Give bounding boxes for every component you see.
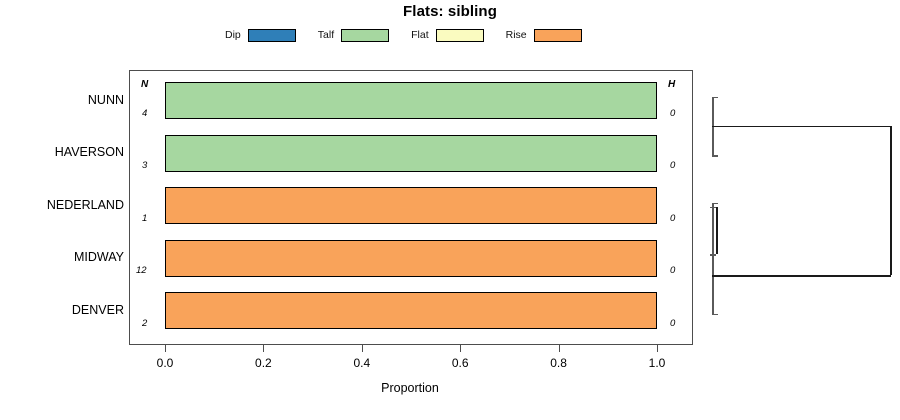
x-tick-1.0 (657, 345, 658, 352)
column-header-n: N (141, 79, 148, 90)
dendro-link-upper (712, 126, 891, 128)
n-value-nederland: 1 (142, 213, 147, 224)
h-value-nunn: 0 (670, 108, 675, 119)
n-value-midway: 12 (136, 265, 147, 276)
x-tick-label-0.2: 0.2 (241, 356, 285, 370)
h-value-haverson: 0 (670, 160, 675, 171)
x-tick-0.0 (165, 345, 166, 352)
bar-denver[interactable] (165, 292, 657, 329)
legend-swatch-talf (341, 29, 389, 42)
legend-label-flat: Flat (411, 29, 429, 41)
legend-swatch-dip (248, 29, 296, 42)
bar-nunn[interactable] (165, 82, 657, 119)
legend-swatch-rise (534, 29, 582, 42)
column-header-h: H (668, 79, 675, 90)
legend-item-talf[interactable]: Talf (318, 29, 389, 42)
x-tick-0.8 (559, 345, 560, 352)
x-tick-0.2 (263, 345, 264, 352)
bar-midway[interactable] (165, 240, 657, 277)
h-value-midway: 0 (670, 265, 675, 276)
n-value-denver: 2 (142, 318, 147, 329)
x-axis-title: Proportion (0, 381, 820, 395)
bar-haverson[interactable] (165, 135, 657, 172)
h-value-nederland: 0 (670, 213, 675, 224)
legend-swatch-flat (436, 29, 484, 42)
x-tick-0.6 (460, 345, 461, 352)
legend-label-talf: Talf (318, 29, 334, 41)
n-value-haverson: 3 (142, 160, 147, 171)
dendro-tip-haverson (712, 155, 718, 157)
x-tick-label-1.0: 1.0 (635, 356, 679, 370)
dendrogram (693, 70, 900, 345)
chart-canvas: Flats: sibling Dip Talf Flat Rise NUNNHA… (0, 0, 900, 420)
dendro-branch-nederland-midway (716, 207, 718, 255)
y-axis-label-midway: MIDWAY (0, 250, 124, 264)
dendro-link-lower (712, 275, 891, 277)
bar-nederland[interactable] (165, 187, 657, 224)
y-axis-label-nunn: NUNN (0, 93, 124, 107)
legend-label-dip: Dip (225, 29, 241, 41)
x-tick-0.4 (362, 345, 363, 352)
legend: Dip Talf Flat Rise (225, 27, 675, 43)
legend-label-rise: Rise (506, 29, 527, 41)
x-tick-label-0.8: 0.8 (537, 356, 581, 370)
x-tick-label-0.6: 0.6 (438, 356, 482, 370)
y-axis-label-denver: DENVER (0, 303, 124, 317)
y-axis-label-nederland: NEDERLAND (0, 198, 124, 212)
legend-item-dip[interactable]: Dip (225, 29, 296, 42)
dendro-branch-lower-cluster (712, 203, 714, 314)
dendro-tip-nunn (712, 97, 718, 99)
dendro-tip-lower-top (712, 203, 718, 205)
legend-item-rise[interactable]: Rise (506, 29, 582, 42)
y-axis-labels: NUNNHAVERSONNEDERLANDMIDWAYDENVER (0, 70, 124, 345)
x-tick-label-0.4: 0.4 (340, 356, 384, 370)
dendro-root (890, 126, 892, 275)
dendro-tip-denver (712, 314, 718, 316)
x-tick-label-0.0: 0.0 (143, 356, 187, 370)
page-title: Flats: sibling (0, 3, 900, 20)
n-value-nunn: 4 (142, 108, 147, 119)
h-value-denver: 0 (670, 318, 675, 329)
y-axis-label-haverson: HAVERSON (0, 145, 124, 159)
legend-item-flat[interactable]: Flat (411, 29, 484, 42)
